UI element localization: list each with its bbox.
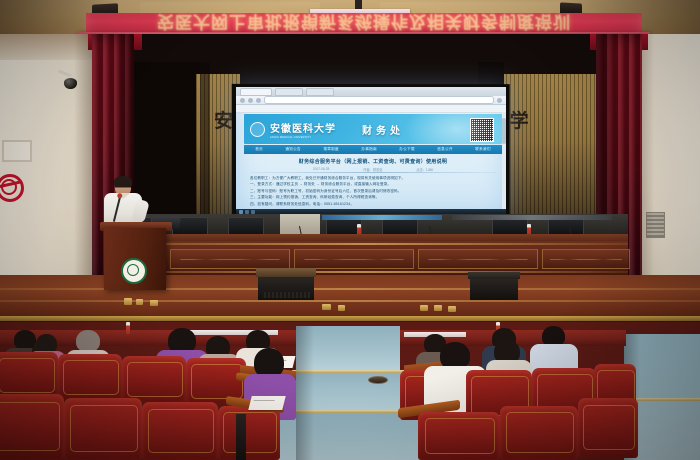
stage-floor-object — [434, 305, 442, 311]
auditorium-seat[interactable] — [64, 398, 142, 460]
stage-monitor-top — [468, 272, 520, 279]
stage-floor-object — [448, 306, 456, 312]
panel-diamond-motif — [418, 249, 538, 269]
auditorium-seat[interactable] — [578, 398, 638, 458]
wood-slat-panel — [502, 74, 598, 224]
panel-diamond-motif — [542, 249, 630, 269]
red-circular-logo-icon — [0, 174, 26, 202]
banner-reflection: 安医大网上审批报销新系统操作及相关财务制度培训 — [86, 13, 642, 34]
article-paragraph: 三、主要功能：网上预约报销、工资查询、科研经费查询、个人所得税查询等。 — [250, 195, 496, 199]
stage-floor-line — [0, 300, 700, 302]
article-body: 各位教职工：为方便广大教职工，我处已开通财务综合服务平台，现将有关使用事项说明如… — [250, 176, 496, 208]
article-paragraph: 各位教职工：为方便广大教职工，我处已开通财务综合服务平台，现将有关使用事项说明如… — [250, 176, 496, 180]
podium-emblem-icon — [121, 258, 147, 284]
nav-item-0[interactable]: 首页 — [255, 147, 263, 152]
browser-tab[interactable] — [306, 88, 334, 96]
article-paragraph: 一、登录方式：通过学校主页 → 财务处 → 财务综合服务平台，或直接输入网址登录… — [250, 182, 496, 186]
qr-code-icon — [470, 118, 494, 142]
auditorium-seat[interactable] — [142, 402, 218, 460]
university-seal-icon — [250, 122, 265, 137]
article-paragraph: 四、如有疑问，请联系财务处信息科，电话：0551-65161234。 — [250, 202, 496, 206]
audience-person-head — [76, 330, 100, 352]
auditorium-seat[interactable] — [58, 354, 122, 400]
menu-icon[interactable] — [497, 98, 502, 103]
nav-item-5[interactable]: 信息公开 — [437, 147, 453, 152]
dais-led-strip — [452, 215, 612, 220]
auditorium-photo: 安医大网上审批报销新系统操作及相关财务制度培训 安医大网上审批报销新系统操作及相… — [0, 0, 700, 460]
nav-item-6[interactable]: 联系我们 — [475, 147, 491, 152]
auditorium-seat[interactable] — [218, 406, 280, 460]
article-paragraph: 二、账号与密码：账号为职工号，初始密码为身份证号后六位，首次登录后请及时修改密码… — [250, 189, 496, 193]
stage-floor-object — [420, 305, 428, 311]
stage-floor-object — [150, 300, 158, 306]
browser-tab[interactable] — [275, 88, 303, 96]
nav-item-2[interactable]: 规章制度 — [323, 147, 339, 152]
seat-leg — [236, 414, 246, 460]
wall-shadow — [200, 62, 210, 238]
article-divider — [250, 172, 496, 173]
floor-outlet-plate — [368, 376, 388, 384]
auditorium-seat[interactable] — [418, 412, 500, 460]
nav-item-1[interactable]: 通知公告 — [285, 147, 301, 152]
stage-monitor-top — [256, 268, 316, 277]
stage-floor-object — [338, 305, 345, 311]
projection-screen: 安徽医科大学 ANHUI MEDICAL UNIVERSITY 财务处 首页 通… — [236, 87, 506, 215]
speaker-grill — [262, 292, 310, 298]
auditorium-seat[interactable] — [122, 356, 186, 402]
nav-item-4[interactable]: 办公下载 — [399, 147, 415, 152]
browser-toolbar[interactable] — [236, 96, 506, 105]
stage-floor-object — [322, 304, 331, 310]
nav-item-3[interactable]: 办事指南 — [361, 147, 377, 152]
university-name-block: 安徽医科大学 ANHUI MEDICAL UNIVERSITY — [270, 120, 336, 139]
panel-rail — [104, 271, 628, 273]
water-bottle — [126, 322, 130, 334]
back-icon[interactable] — [240, 98, 245, 103]
university-name: 安徽医科大学 — [270, 120, 336, 135]
auditorium-seat[interactable] — [0, 352, 58, 398]
site-header: 安徽医科大学 ANHUI MEDICAL UNIVERSITY 财务处 — [244, 114, 502, 144]
dais-led-strip — [322, 215, 442, 220]
browser-tab-strip[interactable] — [236, 87, 506, 96]
address-bar[interactable] — [264, 96, 494, 104]
auditorium-seat[interactable] — [0, 394, 64, 460]
conference-table-top — [104, 234, 628, 241]
reload-icon[interactable] — [256, 98, 261, 103]
page-scrollbar[interactable] — [502, 112, 506, 209]
site-navigation[interactable]: 首页 通知公告 规章制度 办事指南 办公下载 信息公开 联系我们 — [244, 145, 502, 154]
browser-bookmarks-bar[interactable] — [236, 105, 506, 113]
presenter-hair — [114, 176, 132, 187]
auditorium-seat[interactable] — [500, 406, 578, 460]
browser-tab[interactable] — [240, 88, 272, 96]
stage-floor-object — [124, 298, 132, 305]
stage-floor-object — [136, 299, 143, 305]
aisle-shadow — [296, 326, 314, 460]
wall-picture-frame — [2, 140, 32, 162]
department-name: 财务处 — [362, 122, 404, 137]
forward-icon[interactable] — [248, 98, 253, 103]
university-name-en: ANHUI MEDICAL UNIVERSITY — [270, 136, 336, 139]
banner-reflection-text: 安医大网上审批报销新系统操作及相关财务制度培训 — [86, 13, 642, 34]
panel-rail — [104, 243, 628, 245]
panel-diamond-motif — [170, 249, 290, 269]
stage-monitor-speaker — [470, 278, 518, 300]
article-title: 财务综合服务平台（网上报销、工资查询、可费查询）使用说明 — [250, 158, 496, 165]
notebook — [248, 396, 285, 410]
panel-diamond-motif — [294, 249, 414, 269]
